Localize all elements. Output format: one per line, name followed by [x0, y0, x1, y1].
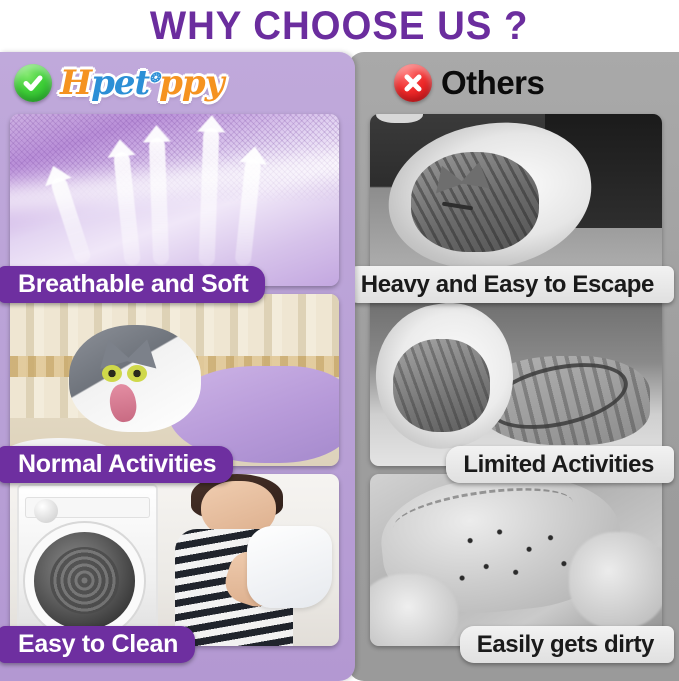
brand-logo: Hpet❂ppy	[60, 66, 223, 100]
page-title: WHY CHOOSE US ?	[150, 4, 529, 49]
brand-header-row: Hpet❂ppy	[0, 52, 355, 114]
check-icon	[14, 64, 52, 102]
comparison-columns: Others Heavy and Easy to Escape	[0, 52, 679, 681]
brand-label-3: Easy to Clean	[0, 626, 195, 663]
header: WHY CHOOSE US ?	[0, 0, 679, 52]
others-card-3: Easily gets dirty	[370, 474, 662, 646]
cross-icon	[394, 64, 432, 102]
photo-dirty-fabric	[370, 474, 662, 646]
brand-label-1: Breathable and Soft	[0, 266, 265, 303]
others-label-2: Limited Activities	[446, 446, 674, 483]
photo-cat-in-cone	[370, 114, 662, 286]
photo-laundry	[10, 474, 339, 646]
brand-card-3: Easy to Clean	[10, 474, 339, 646]
brand-label-2: Normal Activities	[0, 446, 233, 483]
brand-logo-seg-c: ppy	[159, 63, 223, 103]
others-header-row: Others	[348, 52, 679, 114]
brand-panel: Hpet❂ppy Breathable and Soft	[0, 52, 355, 681]
photo-cat-recovery-suit	[10, 294, 339, 466]
others-label-1: Heavy and Easy to Escape	[348, 266, 674, 303]
others-card-1: Heavy and Easy to Escape	[370, 114, 662, 286]
brand-logo-seg-a: H	[60, 63, 91, 103]
paw-print-icon: ❂	[149, 71, 159, 86]
others-label: Others	[441, 64, 544, 102]
brand-logo-seg-b: pet	[91, 63, 149, 103]
others-card-2: Limited Activities	[370, 294, 662, 466]
others-panel: Others Heavy and Easy to Escape	[348, 52, 679, 681]
photo-cat-cone-harness	[370, 294, 662, 466]
brand-card-2: Normal Activities	[10, 294, 339, 466]
others-label-3: Easily gets dirty	[460, 626, 674, 663]
photo-breathable-fabric	[10, 114, 339, 286]
brand-card-1: Breathable and Soft	[10, 114, 339, 286]
